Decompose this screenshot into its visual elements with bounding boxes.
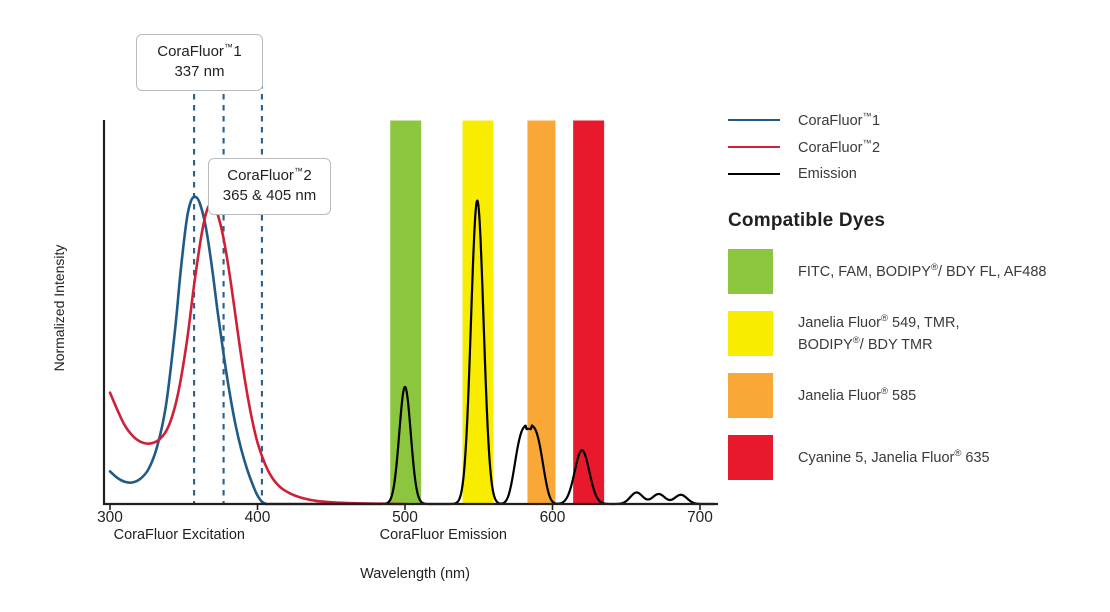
trademark-icon: ™ <box>862 138 872 148</box>
y-axis-title: Normalized Intensity <box>51 228 67 388</box>
legend-panel: CoraFluor™1CoraFluor™2Emission Compatibl… <box>728 106 1100 480</box>
x-axis-region-label-emission: CoraFluor Emission <box>380 527 507 543</box>
trademark-icon: ™ <box>294 166 304 176</box>
legend-item-label: CoraFluor™2 <box>798 138 880 156</box>
legend-item-label: CoraFluor™1 <box>798 111 880 129</box>
x-tick-label-500: 500 <box>375 509 435 527</box>
registered-icon: ® <box>931 262 938 273</box>
legend-item-0: CoraFluor™1 <box>728 106 1100 133</box>
dye-item-label: Cyanine 5, Janelia Fluor® 635 <box>798 447 990 469</box>
x-tick-label-700: 700 <box>670 509 730 527</box>
x-tick-label-400: 400 <box>228 509 288 527</box>
callout-corafluor-1: CoraFluor™1 337 nm <box>136 34 263 91</box>
callout-1-line1: CoraFluor™1 <box>149 42 250 62</box>
legend-line-swatch <box>728 119 780 121</box>
x-axis-region-label-excitation: CoraFluor Excitation <box>114 527 245 543</box>
compatible-dyes-list: FITC, FAM, BODIPY®/ BDY FL, AF488Janelia… <box>728 249 1100 480</box>
compatible-dyes-title: Compatible Dyes <box>728 210 1100 232</box>
legend-line-swatch <box>728 146 780 148</box>
dye-label-line: BODIPY®/ BDY TMR <box>798 334 959 356</box>
trademark-icon: ™ <box>862 111 872 121</box>
dye-color-swatch <box>728 373 773 418</box>
band-green-band <box>390 121 421 505</box>
registered-icon: ® <box>954 448 961 459</box>
callout-2-line2: 365 & 405 nm <box>221 186 318 206</box>
dye-label-line: FITC, FAM, BODIPY®/ BDY FL, AF488 <box>798 261 1046 283</box>
dye-color-swatch <box>728 249 773 294</box>
dye-item-2: Janelia Fluor® 585 <box>728 373 1100 418</box>
dye-label-line: Janelia Fluor® 549, TMR, <box>798 312 959 334</box>
x-axis-title: Wavelength (nm) <box>0 566 830 582</box>
dye-item-label: FITC, FAM, BODIPY®/ BDY FL, AF488 <box>798 261 1046 283</box>
legend-item-2: Emission <box>728 160 1100 187</box>
dye-color-swatch <box>728 311 773 356</box>
registered-icon: ® <box>881 386 888 397</box>
dye-item-1: Janelia Fluor® 549, TMR,BODIPY®/ BDY TMR <box>728 311 1100 356</box>
registered-icon: ® <box>881 313 888 324</box>
dye-item-3: Cyanine 5, Janelia Fluor® 635 <box>728 435 1100 480</box>
band-orange-band <box>527 121 555 505</box>
dye-label-line: Janelia Fluor® 585 <box>798 385 916 407</box>
legend-item-label: Emission <box>798 166 857 182</box>
dye-item-label: Janelia Fluor® 585 <box>798 385 916 407</box>
x-tick-label-300: 300 <box>80 509 140 527</box>
registered-icon: ® <box>853 335 860 346</box>
dye-color-swatch <box>728 435 773 480</box>
callout-1-line2: 337 nm <box>149 62 250 82</box>
dye-label-line: Cyanine 5, Janelia Fluor® 635 <box>798 447 990 469</box>
dye-item-0: FITC, FAM, BODIPY®/ BDY FL, AF488 <box>728 249 1100 294</box>
curve-excitation-0 <box>110 197 266 504</box>
callout-corafluor-2: CoraFluor™2 365 & 405 nm <box>208 158 331 215</box>
band-red-band <box>573 121 604 505</box>
series-legend: CoraFluor™1CoraFluor™2Emission <box>728 106 1100 187</box>
fluorescence-spectra-chart: CoraFluor™1 337 nm CoraFluor™2 365 & 405… <box>0 0 1110 612</box>
dye-item-label: Janelia Fluor® 549, TMR,BODIPY®/ BDY TMR <box>798 312 959 356</box>
trademark-icon: ™ <box>224 42 234 52</box>
legend-item-1: CoraFluor™2 <box>728 133 1100 160</box>
x-tick-label-600: 600 <box>523 509 583 527</box>
legend-line-swatch <box>728 173 780 175</box>
callout-2-line1: CoraFluor™2 <box>221 166 318 186</box>
